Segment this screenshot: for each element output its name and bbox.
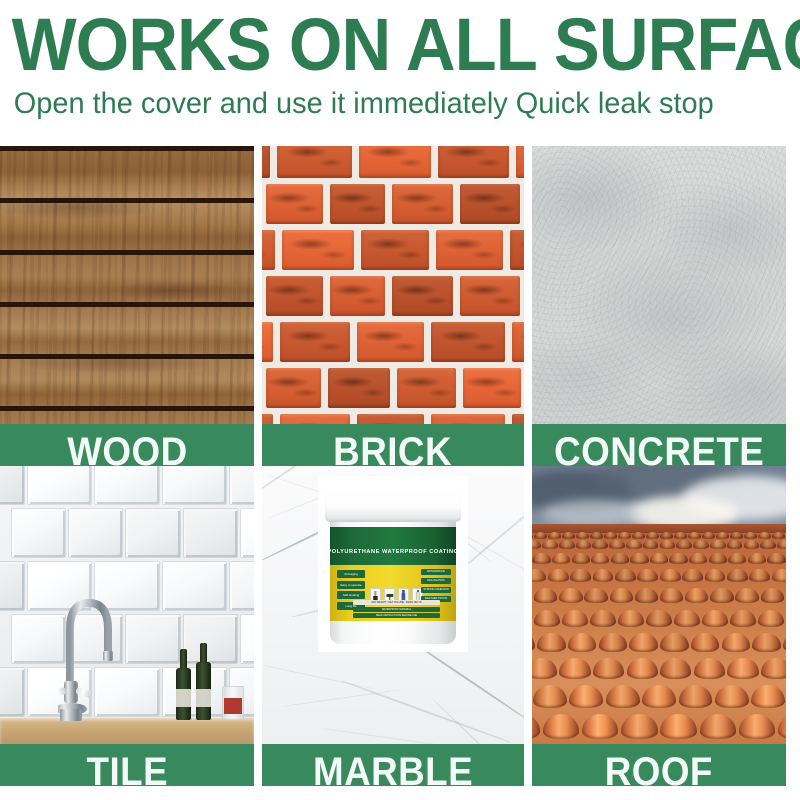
product-label-body: Anti-aging Easy to operate Self-leveling… bbox=[330, 565, 456, 621]
marble-vein bbox=[322, 728, 461, 744]
brick-unit bbox=[266, 184, 323, 224]
brick-unit bbox=[262, 230, 275, 270]
faucet-icon bbox=[58, 589, 120, 724]
grid-gutter bbox=[524, 466, 532, 786]
surface-panel-tile[interactable]: TILE bbox=[0, 466, 254, 786]
roof-tile bbox=[722, 633, 751, 652]
brick-texture-photo bbox=[262, 146, 524, 424]
roof-tile bbox=[548, 569, 569, 582]
roof-tile bbox=[660, 540, 676, 549]
faucet bbox=[58, 589, 120, 724]
roof-tile-row bbox=[532, 714, 786, 739]
brick-unit bbox=[361, 230, 430, 270]
roof-tile bbox=[727, 658, 758, 679]
tile-unit bbox=[184, 615, 237, 663]
brick-unit bbox=[357, 322, 424, 362]
surface-label-roof: ROOF bbox=[532, 744, 786, 786]
surface-label-marble: MARBLE bbox=[262, 744, 524, 786]
roof-tile bbox=[730, 610, 756, 627]
roof-tile bbox=[669, 553, 687, 564]
roof-tile bbox=[727, 569, 748, 582]
roof-tile-row bbox=[532, 540, 786, 549]
roof-tile bbox=[532, 540, 541, 549]
tile-unit bbox=[184, 509, 237, 557]
feature-tag: Easy to operate bbox=[337, 581, 365, 589]
roof-tile bbox=[761, 588, 784, 603]
product-spec-list: WATERPROOF HIGH ELASTIC STRONG ADHESION … bbox=[421, 569, 451, 602]
feature-tag: Anti-aging bbox=[337, 570, 365, 578]
surface-label-text: TILE bbox=[86, 752, 168, 786]
roof-tile-row bbox=[532, 569, 786, 582]
roof-tile bbox=[660, 569, 681, 582]
brick-unit bbox=[330, 276, 385, 316]
roof-tile bbox=[532, 553, 550, 564]
roof-tile bbox=[642, 685, 676, 708]
roof-tile bbox=[559, 540, 575, 549]
footer-bar: NET WEIGHT / NET VOLUME : 300ML NET W bbox=[353, 600, 440, 605]
tile-unit bbox=[0, 562, 24, 610]
surface-label-text: MARBLE bbox=[313, 752, 473, 786]
poster-header: WORKS ON ALL SURFACE Open the cover and … bbox=[0, 0, 800, 140]
roof-tile bbox=[760, 540, 776, 549]
tile-unit bbox=[163, 562, 227, 610]
roof-tile bbox=[710, 588, 733, 603]
marble-vein bbox=[262, 662, 377, 690]
roof-tile bbox=[609, 540, 625, 549]
grid-gutter bbox=[786, 146, 800, 466]
tile-unit bbox=[163, 668, 227, 716]
spec-bar: WATERPROOF bbox=[421, 569, 451, 575]
roof-tile bbox=[689, 553, 707, 564]
cloud bbox=[542, 500, 642, 526]
brick-unit bbox=[512, 322, 524, 362]
page-title: WORKS ON ALL SURFACE bbox=[6, 6, 739, 84]
brick-row bbox=[266, 184, 524, 224]
grid-gutter bbox=[254, 146, 262, 466]
marble-vein bbox=[282, 689, 401, 707]
roof-tile bbox=[562, 610, 588, 627]
tile-row bbox=[0, 466, 254, 504]
roof-tile bbox=[629, 633, 658, 652]
roof-tile bbox=[599, 633, 628, 652]
roof-texture-photo bbox=[532, 466, 786, 744]
brick-unit bbox=[463, 368, 521, 408]
roof-tile bbox=[660, 658, 691, 679]
tile-unit bbox=[95, 466, 159, 504]
tile-unit bbox=[12, 509, 65, 557]
roof-tile bbox=[618, 532, 631, 539]
roof-tile-row bbox=[532, 588, 786, 603]
roof-tile bbox=[534, 532, 547, 539]
tile-unit bbox=[163, 466, 227, 504]
product-title-band: POLYURETHANE WATERPROOF COATING bbox=[330, 527, 456, 565]
roof-tile bbox=[611, 553, 629, 564]
roof-tile bbox=[660, 633, 689, 652]
roof-tile bbox=[650, 553, 668, 564]
surface-panel-brick[interactable]: BRICK bbox=[262, 146, 524, 466]
roof-tile bbox=[593, 569, 614, 582]
brick-row bbox=[262, 414, 524, 424]
roof-tile bbox=[748, 553, 766, 564]
tile-unit bbox=[241, 615, 254, 663]
roof-tile bbox=[702, 532, 715, 539]
product-title: POLYURETHANE WATERPROOF COATING bbox=[330, 549, 456, 555]
roof-tile bbox=[710, 540, 726, 549]
surface-label-tile: TILE bbox=[0, 744, 254, 786]
brick-unit bbox=[330, 184, 385, 224]
roof-tile bbox=[693, 540, 709, 549]
tile-unit bbox=[230, 466, 254, 504]
roof-tile bbox=[749, 569, 770, 582]
roof-tile bbox=[735, 588, 758, 603]
brick-unit bbox=[277, 146, 352, 178]
spec-bar: HIGH ELASTIC bbox=[421, 578, 451, 584]
roof-tile bbox=[532, 714, 540, 739]
brick-unit bbox=[460, 276, 519, 316]
brick-unit bbox=[280, 322, 349, 362]
bottle bbox=[196, 662, 211, 720]
roof-tile bbox=[702, 610, 728, 627]
roof-tile bbox=[534, 588, 557, 603]
roof-tile bbox=[569, 685, 603, 708]
roof-tile bbox=[568, 633, 597, 652]
roof-tile bbox=[772, 532, 785, 539]
roof-tile bbox=[744, 540, 760, 549]
roof-tile bbox=[694, 658, 725, 679]
roof-tile bbox=[705, 569, 726, 582]
roof-tile bbox=[761, 658, 786, 679]
marble-texture-photo: POLYURETHANE WATERPROOF COATING Anti-agi… bbox=[262, 466, 524, 744]
product-card: POLYURETHANE WATERPROOF COATING Anti-agi… bbox=[318, 476, 468, 652]
roof-tile bbox=[562, 532, 575, 539]
roof-tile bbox=[744, 532, 757, 539]
roof-tile bbox=[688, 532, 701, 539]
tile-unit bbox=[28, 466, 92, 504]
roof-tile bbox=[618, 610, 644, 627]
roof-tile bbox=[682, 569, 703, 582]
roof-tile bbox=[685, 588, 708, 603]
tile-row bbox=[0, 562, 254, 610]
roof-tile bbox=[590, 610, 616, 627]
roof-tile bbox=[772, 569, 786, 582]
roof-tile bbox=[637, 569, 658, 582]
brick-row bbox=[266, 368, 524, 408]
roof-tile bbox=[758, 610, 784, 627]
footer-bar: READ INSTRUCTIONS BEFORE USE bbox=[353, 613, 440, 618]
brick-unit bbox=[397, 368, 457, 408]
roof-tile bbox=[727, 540, 743, 549]
roof-tile bbox=[590, 532, 603, 539]
page-subtitle: Open the cover and use it immediately Qu… bbox=[6, 86, 766, 122]
roof-tile bbox=[532, 633, 535, 652]
roof-tile bbox=[576, 540, 592, 549]
brick-unit bbox=[262, 414, 273, 424]
roof-tile bbox=[691, 633, 720, 652]
bottle bbox=[176, 668, 191, 720]
roof-tile bbox=[752, 633, 781, 652]
roof-tile bbox=[660, 532, 673, 539]
roof-tile bbox=[582, 714, 618, 739]
roof-tile bbox=[543, 714, 579, 739]
bucket-lid bbox=[325, 488, 461, 522]
roof-tile bbox=[674, 610, 700, 627]
countertop bbox=[0, 718, 254, 744]
brick-unit bbox=[357, 414, 424, 424]
tile-unit bbox=[126, 615, 179, 663]
spec-bar: STRONG ADHESION bbox=[421, 587, 451, 593]
surface-panel-wood[interactable]: WOOD bbox=[0, 146, 254, 466]
product-bucket[interactable]: POLYURETHANE WATERPROOF COATING Anti-agi… bbox=[322, 488, 464, 648]
product-poster: WORKS ON ALL SURFACE Open the cover and … bbox=[0, 0, 800, 800]
footer-bar: WATERPROOF MATERIAL bbox=[353, 607, 440, 612]
tile-row bbox=[12, 509, 254, 557]
brick-unit bbox=[282, 230, 353, 270]
roof-tile bbox=[534, 610, 560, 627]
surface-label-text: CONCRETE bbox=[554, 432, 764, 466]
brick-unit bbox=[460, 184, 519, 224]
tile-row bbox=[0, 668, 254, 716]
brick-unit bbox=[431, 414, 505, 424]
roof-tile bbox=[548, 532, 561, 539]
roof-tile bbox=[532, 569, 546, 582]
surface-label-brick: BRICK bbox=[262, 424, 524, 466]
roof-tile bbox=[626, 540, 642, 549]
tile-unit bbox=[126, 509, 179, 557]
roof-tile bbox=[700, 714, 736, 739]
brick-unit bbox=[512, 414, 524, 424]
brick-row bbox=[266, 276, 524, 316]
brick-unit bbox=[392, 276, 453, 316]
roof-tile-row bbox=[532, 658, 786, 679]
roof-tile bbox=[751, 685, 785, 708]
wood-texture-photo bbox=[0, 146, 254, 424]
roof-tile bbox=[552, 553, 570, 564]
roof-tile bbox=[635, 588, 658, 603]
roof-tile bbox=[606, 685, 640, 708]
brick-unit bbox=[262, 146, 270, 178]
grid-gutter bbox=[254, 466, 262, 786]
roof-tile bbox=[643, 540, 659, 549]
brick-unit bbox=[510, 230, 524, 270]
surface-label-text: WOOD bbox=[67, 432, 187, 466]
roof-tile bbox=[730, 532, 743, 539]
surface-panel-concrete[interactable]: CONCRETE bbox=[532, 146, 786, 466]
roof-tile bbox=[570, 569, 591, 582]
roof-tile bbox=[778, 714, 786, 739]
surface-label-text: BRICK bbox=[334, 432, 453, 466]
roof-tile bbox=[592, 540, 608, 549]
roof-tile bbox=[646, 532, 659, 539]
surface-label-text: ROOF bbox=[605, 752, 713, 786]
roof-tile-row bbox=[532, 532, 786, 539]
roof-tile bbox=[542, 540, 558, 549]
roof-tile-row bbox=[532, 685, 786, 708]
roof-tile bbox=[537, 633, 566, 652]
roof-tile bbox=[758, 532, 771, 539]
roof-tile bbox=[676, 540, 692, 549]
concrete-texture-photo bbox=[532, 146, 786, 424]
roof-tile-row bbox=[532, 553, 786, 564]
roof-tile bbox=[739, 714, 775, 739]
roof-tile bbox=[660, 588, 683, 603]
tile-unit bbox=[69, 509, 122, 557]
roof-tile bbox=[632, 532, 645, 539]
brick-row bbox=[262, 322, 524, 362]
surface-label-wood: WOOD bbox=[0, 424, 254, 466]
roof-tile-row bbox=[532, 633, 786, 652]
surface-panel-marble[interactable]: POLYURETHANE WATERPROOF COATING Anti-agi… bbox=[262, 466, 524, 786]
roof-tile bbox=[604, 532, 617, 539]
brick-unit bbox=[280, 414, 349, 424]
brick-unit bbox=[438, 146, 508, 178]
brick-unit bbox=[266, 368, 321, 408]
brick-row bbox=[262, 146, 524, 178]
surface-grid: WOOD BRICK CONCRETE bbox=[0, 146, 800, 786]
brick-unit bbox=[392, 184, 453, 224]
roof-tile bbox=[593, 658, 624, 679]
tile-kitchen-photo bbox=[0, 466, 254, 744]
feature-tag: Self-leveling bbox=[337, 591, 365, 599]
tile-unit bbox=[0, 466, 24, 504]
roof-tile bbox=[559, 588, 582, 603]
roof-tile bbox=[591, 553, 609, 564]
brick-unit bbox=[262, 322, 273, 362]
roof-tile bbox=[728, 553, 746, 564]
roof-tile bbox=[630, 553, 648, 564]
roof-tile bbox=[767, 553, 785, 564]
brick-unit bbox=[359, 146, 432, 178]
roof-tile bbox=[679, 685, 713, 708]
roof-tile bbox=[532, 532, 533, 539]
grid-gutter bbox=[524, 146, 532, 466]
surface-label-concrete: CONCRETE bbox=[532, 424, 786, 466]
roof-tile bbox=[674, 532, 687, 539]
roof-tile bbox=[660, 714, 696, 739]
roof-tile bbox=[627, 658, 658, 679]
roof-tile-row bbox=[532, 610, 786, 627]
jar bbox=[222, 686, 244, 720]
roof-tile bbox=[777, 540, 786, 549]
brick-unit bbox=[328, 368, 389, 408]
tile-unit bbox=[230, 562, 254, 610]
brick-row bbox=[262, 230, 524, 270]
product-footer-info: NET WEIGHT / NET VOLUME : 300ML NET W WA… bbox=[353, 600, 440, 618]
bucket-body: POLYURETHANE WATERPROOF COATING Anti-agi… bbox=[330, 516, 456, 644]
roof-tile bbox=[615, 569, 636, 582]
roof-tile bbox=[572, 553, 590, 564]
grid-gutter bbox=[786, 466, 800, 786]
brick-unit bbox=[436, 230, 503, 270]
roof-tile bbox=[646, 610, 672, 627]
roof-tile bbox=[621, 714, 657, 739]
roof-tile bbox=[715, 685, 749, 708]
tile-unit bbox=[0, 668, 24, 716]
brick-unit bbox=[431, 322, 505, 362]
roof-tile bbox=[610, 588, 633, 603]
brick-unit bbox=[266, 276, 323, 316]
roof-tile bbox=[716, 532, 729, 539]
roof-tile bbox=[576, 532, 589, 539]
roof-tile bbox=[709, 553, 727, 564]
roof-tile bbox=[559, 658, 590, 679]
roof-tile bbox=[584, 588, 607, 603]
brick-unit bbox=[516, 146, 524, 178]
roof-tile bbox=[533, 685, 567, 708]
roof-tile bbox=[532, 658, 557, 679]
tile-row bbox=[12, 615, 254, 663]
tile-unit bbox=[241, 509, 254, 557]
surface-panel-roof[interactable]: ROOF bbox=[532, 466, 786, 786]
